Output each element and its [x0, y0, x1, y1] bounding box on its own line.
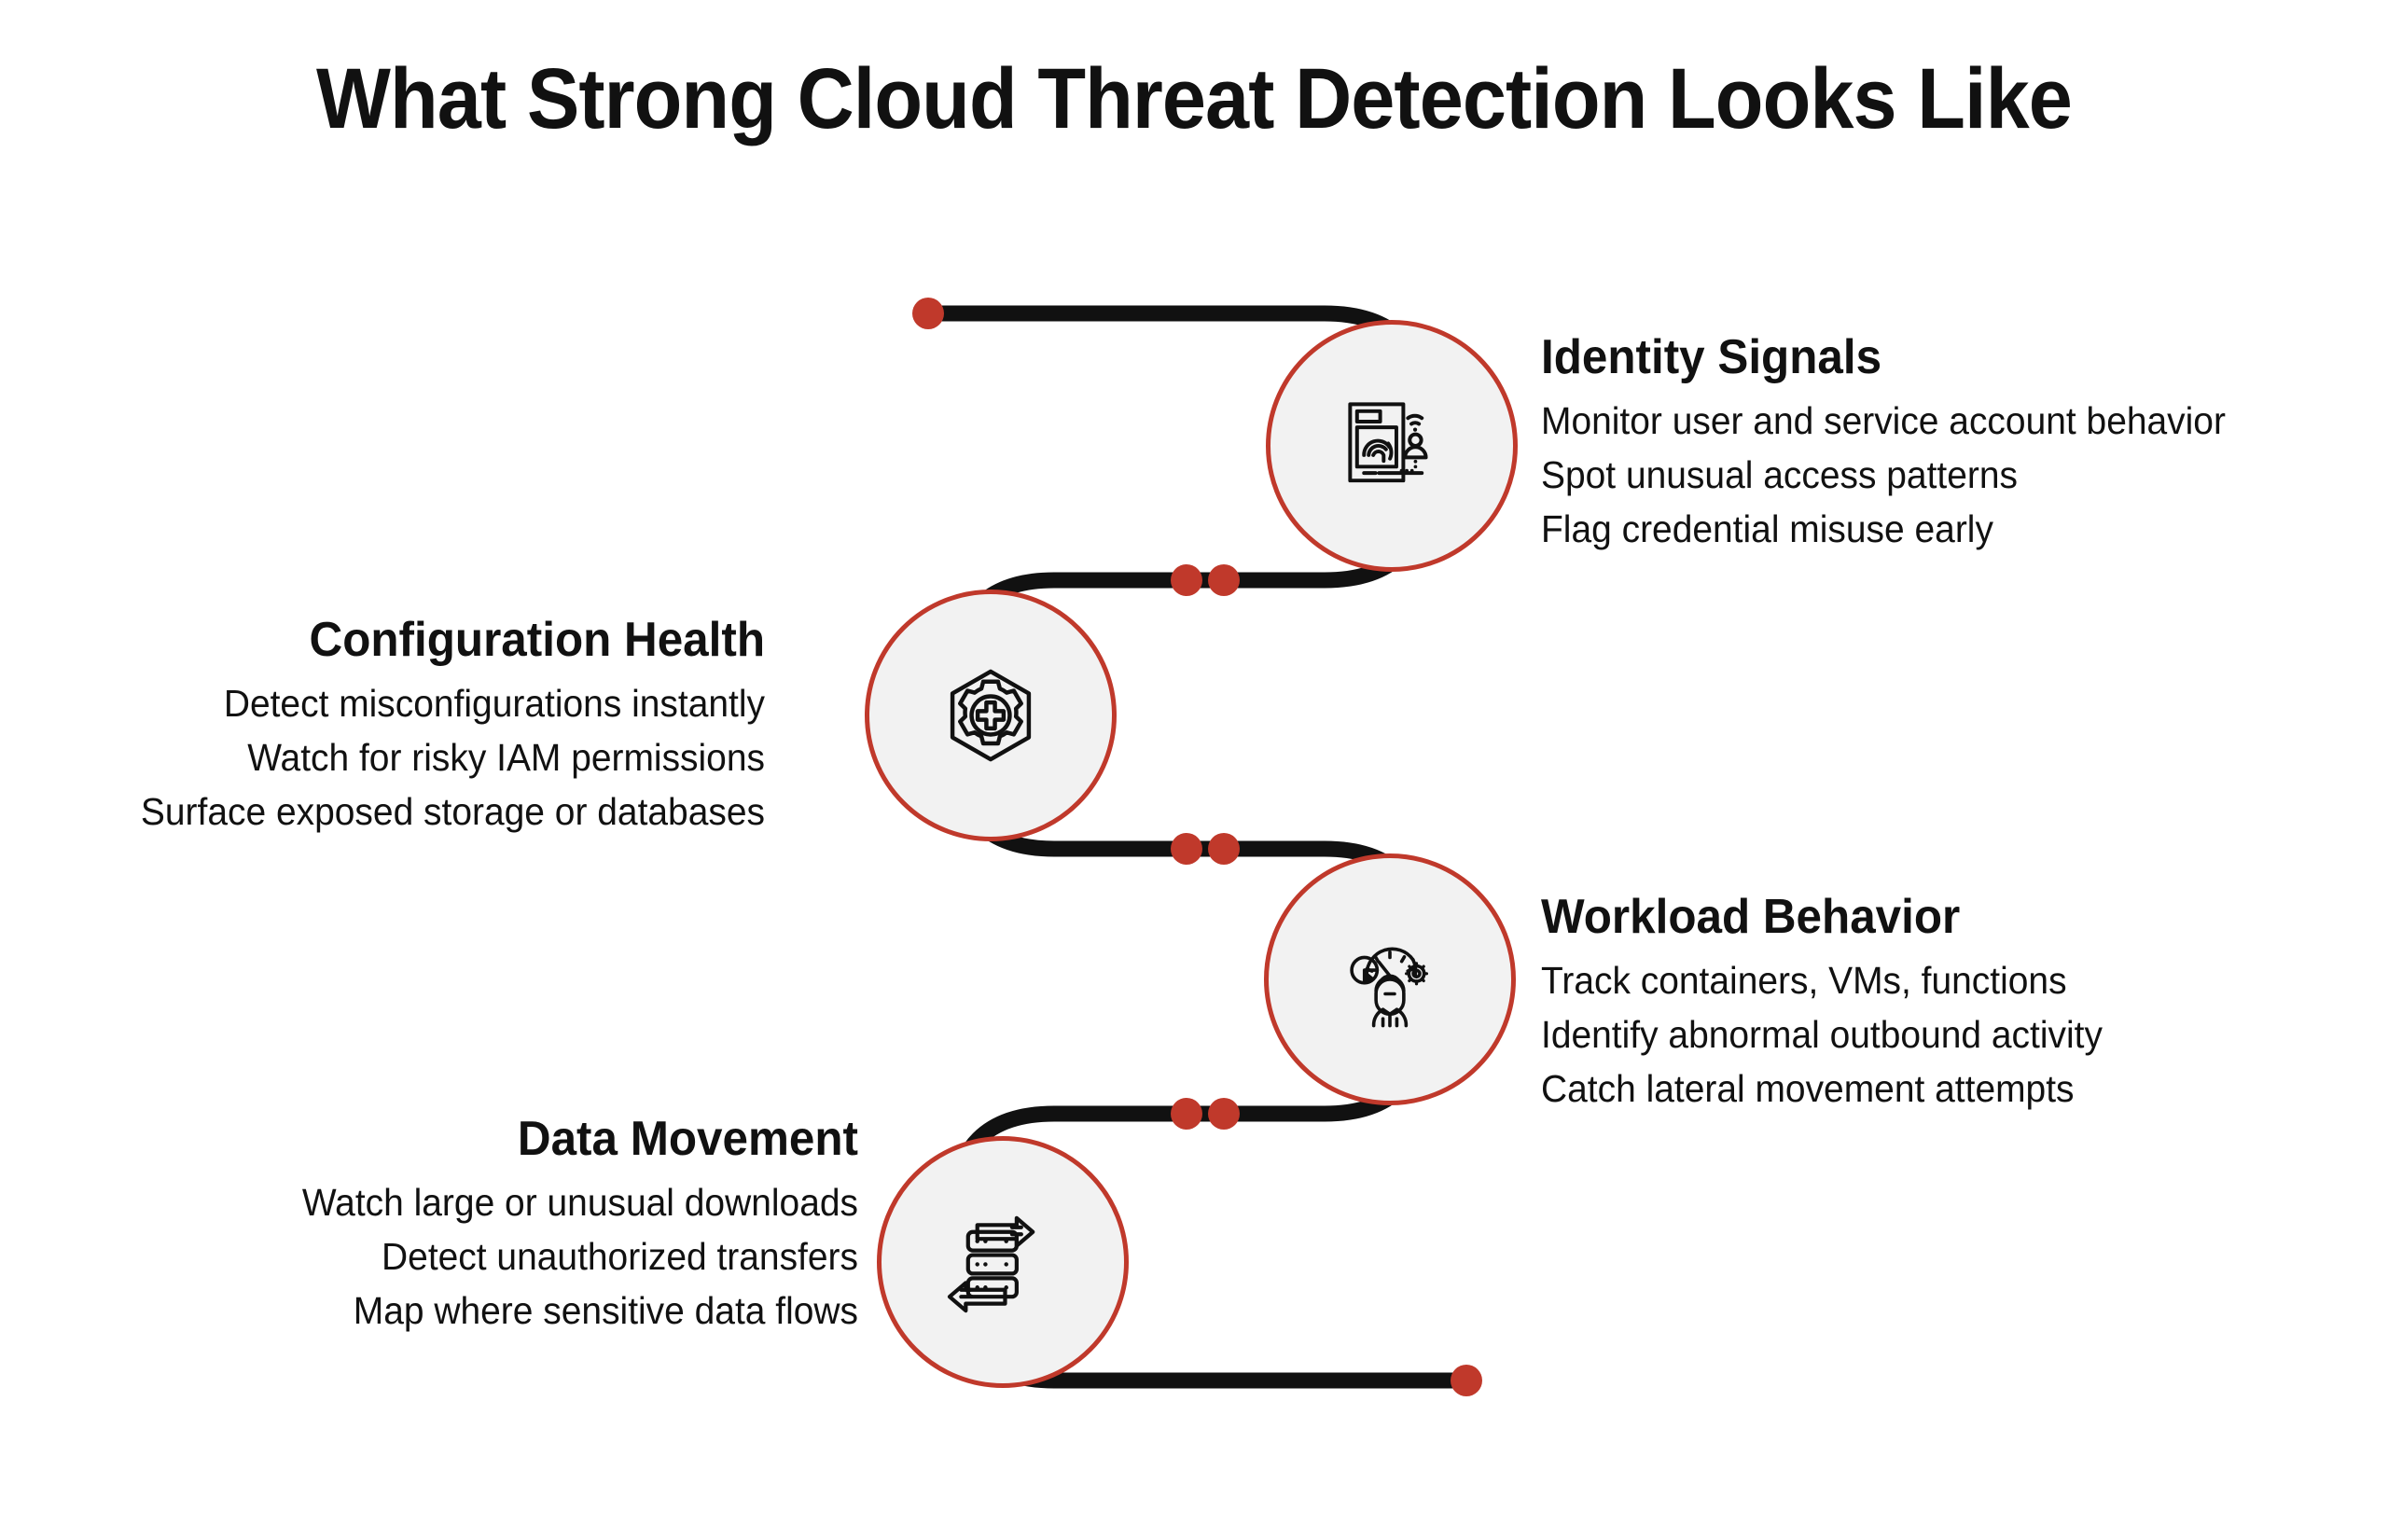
node-bullet: Identify abnormal outbound activity [1541, 1007, 2268, 1061]
hexagon-gear-plus-icon [933, 658, 1048, 773]
node-bullet: Spot unusual access patterns [1541, 448, 2250, 502]
node-text-identity-signals: Identity Signals Monitor user and servic… [1541, 328, 2287, 556]
red-dot-pair-2a [1171, 833, 1202, 865]
node-bullet-list: Watch large or unusual downloads Detect … [187, 1175, 858, 1338]
red-dot-end [1451, 1365, 1482, 1396]
node-bullet: Watch large or unusual downloads [220, 1175, 858, 1229]
node-heading: Workload Behavior [1541, 888, 2268, 946]
node-circle-data-movement[interactable] [877, 1136, 1129, 1388]
red-dot-pair-2b [1208, 833, 1240, 865]
node-text-data-movement: Data Movement Watch large or unusual dow… [187, 1110, 858, 1338]
node-bullet: Detect unauthorized transfers [220, 1229, 858, 1283]
node-heading: Identity Signals [1541, 328, 2250, 386]
red-dot-pair-1a [1171, 564, 1202, 596]
red-dot-pair-3a [1171, 1098, 1202, 1130]
red-dot-start [912, 298, 944, 329]
page-title: What Strong Cloud Threat Detection Looks… [95, 49, 2292, 149]
fingerprint-scanner-identity-icon [1334, 388, 1450, 504]
node-bullet: Surface exposed storage or databases [127, 784, 765, 839]
node-bullet-list: Monitor user and service account behavio… [1541, 394, 2287, 556]
person-gauge-gear-icon [1332, 922, 1448, 1037]
node-heading: Configuration Health [127, 611, 765, 669]
infographic-canvas: What Strong Cloud Threat Detection Looks… [0, 0, 2388, 1540]
node-heading: Data Movement [220, 1110, 858, 1168]
node-circle-workload-behavior[interactable] [1264, 853, 1516, 1105]
red-dot-pair-3b [1208, 1098, 1240, 1130]
node-bullet-list: Detect misconfigurations instantly Watch… [93, 676, 765, 839]
red-dot-pair-1b [1208, 564, 1240, 596]
node-circle-identity-signals[interactable] [1266, 320, 1518, 572]
node-bullet: Watch for risky IAM permissions [127, 730, 765, 784]
node-text-workload-behavior: Workload Behavior Track containers, VMs,… [1541, 888, 2306, 1116]
node-bullet: Flag credential misuse early [1541, 502, 2250, 556]
node-bullet: Detect misconfigurations instantly [127, 676, 765, 730]
node-bullet-list: Track containers, VMs, functions Identif… [1541, 953, 2306, 1116]
node-text-configuration-health: Configuration Health Detect misconfigura… [93, 611, 765, 839]
node-bullet: Map where sensitive data flows [220, 1283, 858, 1338]
node-bullet: Catch lateral movement attempts [1541, 1061, 2268, 1116]
server-stack-transfer-arrows-icon [945, 1204, 1061, 1320]
node-bullet: Monitor user and service account behavio… [1541, 394, 2250, 448]
node-bullet: Track containers, VMs, functions [1541, 953, 2268, 1007]
node-circle-configuration-health[interactable] [865, 590, 1117, 841]
